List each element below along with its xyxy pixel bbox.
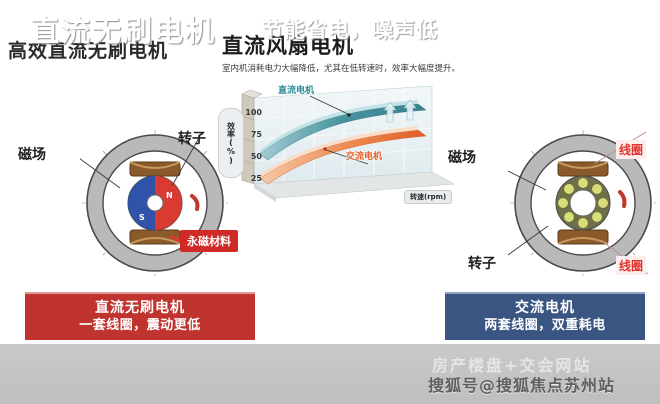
ac-banner-line1: 交流电机 xyxy=(445,300,645,317)
bottom-headline: 直流无刷电机 xyxy=(30,8,216,50)
efficiency-chart: 直流电机 交流电机 效率(%) 100 75 50 25 转速(rpm) xyxy=(218,80,470,210)
watermark-primary: 搜狐号@搜狐焦点苏州站 xyxy=(428,372,615,396)
dc-motor-svg: N S xyxy=(80,128,230,278)
ac-banner-line2: 两套线圈，双重耗电 xyxy=(445,317,645,334)
ac-coil-tag-top: 线圈 xyxy=(616,140,646,159)
dc-banner-line1: 直流无刷电机 xyxy=(25,300,255,317)
y-tick-25: 25 xyxy=(244,174,262,183)
dc-label-magnetic-field: 磁场 xyxy=(18,144,46,164)
series-label-dc: 直流电机 xyxy=(278,83,314,96)
dc-motor-diagram: N S xyxy=(80,128,230,282)
dc-summary-banner: 直流无刷电机 一套线圈，震动更低 xyxy=(25,292,255,340)
y-tick-100: 100 xyxy=(244,108,262,117)
series-label-ac: 交流电机 xyxy=(346,149,382,162)
dc-label-rotor: 转子 xyxy=(178,128,206,148)
chart-subtitle: 室内机消耗电力大幅降低，尤其在低转速时，效率大幅度提升。 xyxy=(222,62,460,74)
ac-label-rotor: 转子 xyxy=(468,253,496,273)
y-tick-75: 75 xyxy=(244,130,262,139)
bottom-subline: 节能省电，噪声低 xyxy=(262,14,438,44)
ac-coil-tag-bottom: 线圈 xyxy=(616,256,646,275)
svg-text:N: N xyxy=(166,191,173,200)
dc-banner-line2: 一套线圈，震动更低 xyxy=(25,317,255,334)
svg-text:S: S xyxy=(139,213,145,222)
ac-summary-banner: 交流电机 两套线圈，双重耗电 xyxy=(445,292,645,340)
permanent-magnet-tag: 永磁材料 xyxy=(180,230,238,252)
y-tick-50: 50 xyxy=(244,152,262,161)
x-axis-label: 转速(rpm) xyxy=(404,190,452,204)
ac-label-magnetic-field: 磁场 xyxy=(448,147,476,167)
infographic-page: 高效直流无刷电机 直流风扇电机 室内机消耗电力大幅降低，尤其在低转速时，效率大幅… xyxy=(0,0,660,404)
